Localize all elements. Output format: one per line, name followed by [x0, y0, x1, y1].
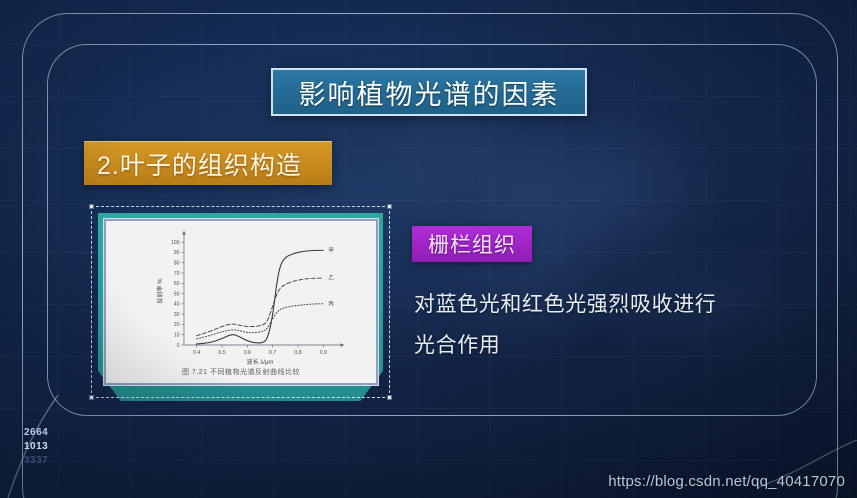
chart-caption: 图 7.21 不同植物光谱反射曲线比较	[106, 367, 376, 377]
svg-text:波长 λ/μm: 波长 λ/μm	[247, 358, 274, 366]
section-tag-text: 栅栏组织	[428, 229, 516, 259]
body-text-block: 对蓝色光和红色光强烈吸收进行 光合作用	[414, 284, 834, 366]
svg-text:0.7: 0.7	[269, 350, 276, 356]
svg-text:30: 30	[174, 312, 180, 318]
presentation-slide: 影响植物光谱的因素 2.叶子的组织构造 栅栏组织 对蓝色光和红色光强烈吸收进行 …	[0, 0, 857, 498]
spectral-reflectance-chart: 01020304050607080901000.40.50.60.70.80.9…	[106, 221, 376, 383]
resize-handle-se[interactable]	[387, 395, 392, 400]
svg-text:80: 80	[174, 261, 180, 267]
svg-text:100: 100	[171, 240, 180, 246]
svg-text:0.6: 0.6	[244, 350, 251, 356]
section-tag: 栅栏组织	[412, 226, 532, 262]
svg-text:10: 10	[174, 333, 180, 339]
svg-text:0: 0	[177, 343, 180, 349]
svg-text:0.4: 0.4	[193, 350, 200, 356]
slide-title-text: 影响植物光谱的因素	[299, 73, 560, 112]
blog-url-watermark: https://blog.csdn.net/qq_40417070	[608, 473, 845, 490]
body-text-line-2: 光合作用	[414, 325, 834, 366]
decorative-swoosh-left	[0, 395, 120, 498]
svg-text:反射率 %: 反射率 %	[156, 278, 164, 304]
svg-text:70: 70	[174, 271, 180, 277]
svg-text:乙: 乙	[328, 275, 334, 282]
slide-subtitle: 2.叶子的组织构造	[84, 141, 332, 185]
resize-handle-ne[interactable]	[387, 204, 392, 209]
svg-text:0.9: 0.9	[320, 350, 327, 356]
svg-text:0.8: 0.8	[294, 350, 301, 356]
chart-image[interactable]: 01020304050607080901000.40.50.60.70.80.9…	[104, 219, 378, 385]
svg-text:90: 90	[174, 250, 180, 256]
svg-text:甲: 甲	[328, 247, 333, 254]
body-text-line-1: 对蓝色光和红色光强烈吸收进行	[414, 284, 834, 325]
svg-text:50: 50	[174, 291, 180, 297]
svg-text:60: 60	[174, 281, 180, 287]
chart-canvas: 01020304050607080901000.40.50.60.70.80.9…	[106, 221, 376, 383]
resize-handle-nw[interactable]	[89, 204, 94, 209]
corner-number-1: 2664	[24, 426, 48, 440]
corner-number-stack: 2664 1013 3337	[24, 426, 48, 468]
svg-text:20: 20	[174, 322, 180, 328]
slide-subtitle-text: 2.叶子的组织构造	[97, 146, 302, 182]
svg-text:40: 40	[174, 302, 180, 308]
resize-handle-sw[interactable]	[89, 395, 94, 400]
svg-text:丙: 丙	[328, 300, 334, 307]
svg-text:0.5: 0.5	[218, 350, 225, 356]
slide-title: 影响植物光谱的因素	[271, 68, 587, 116]
corner-number-2: 1013	[24, 440, 48, 454]
corner-number-3: 3337	[24, 454, 48, 468]
